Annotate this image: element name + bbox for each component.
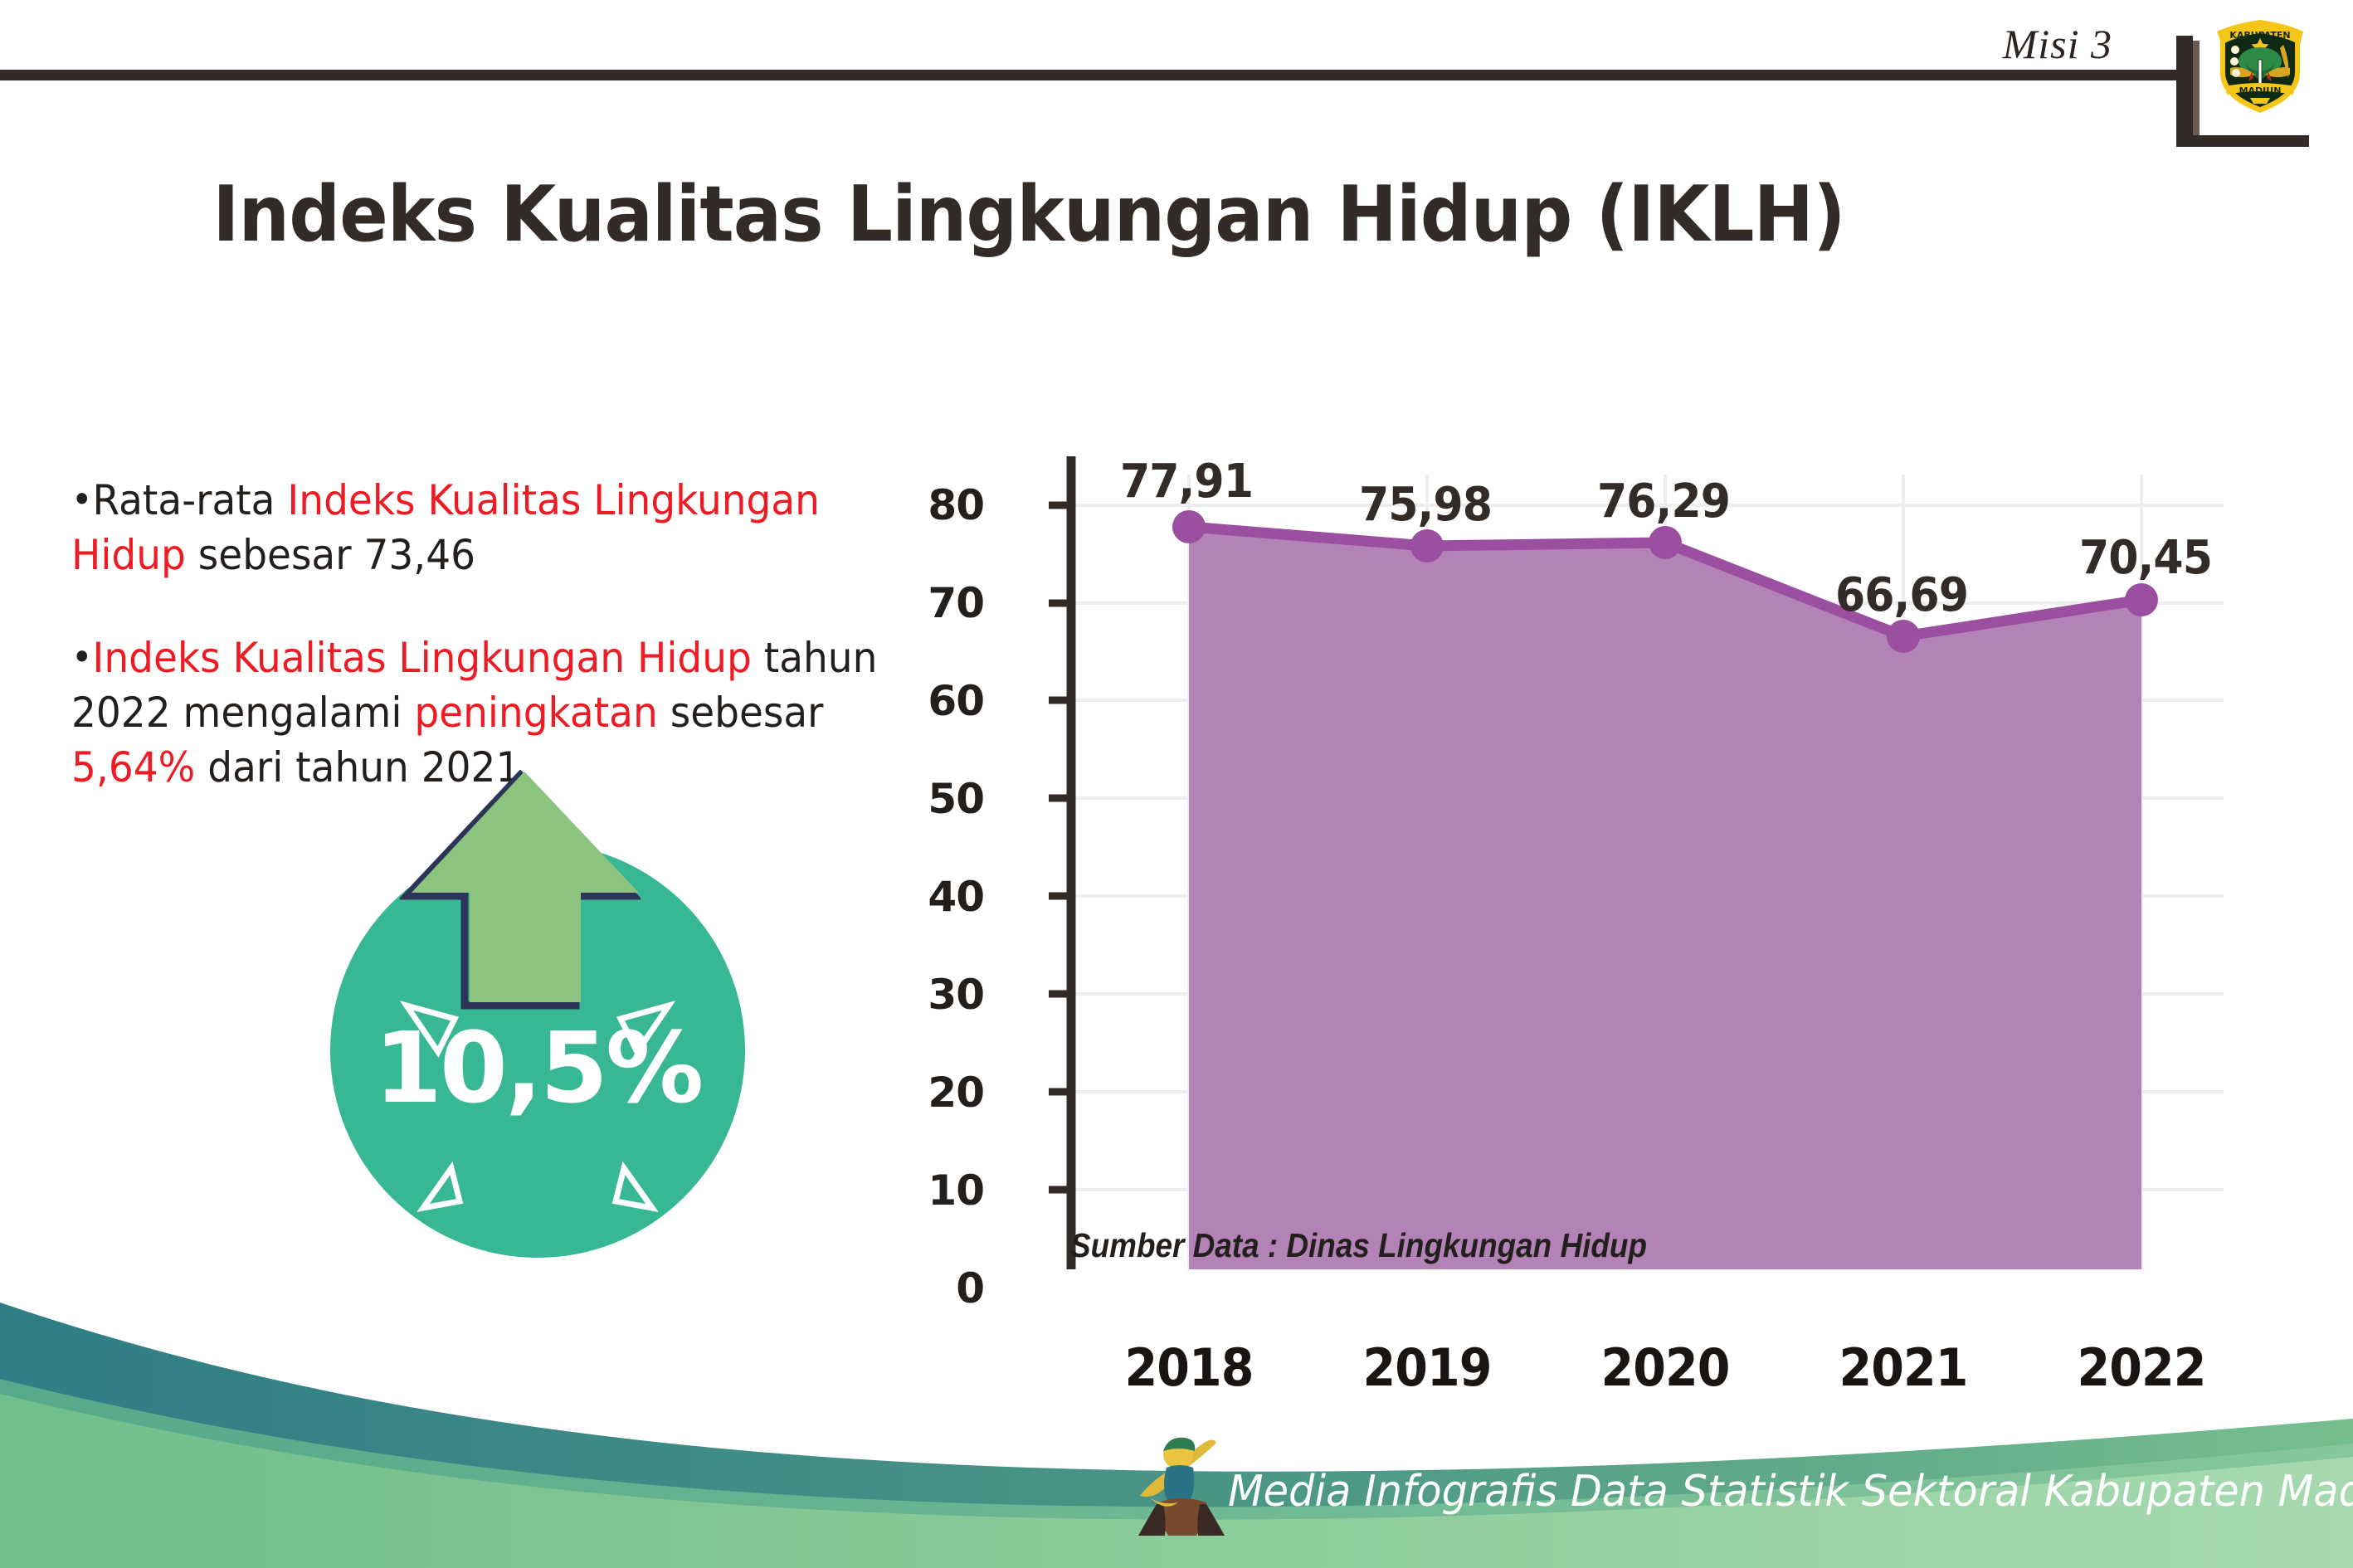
increase-badge: 10,5%	[330, 770, 745, 1185]
ytick-label-40: 40	[901, 873, 984, 921]
svg-text:MADIUN: MADIUN	[2239, 85, 2282, 96]
chart-source-caption: Sumber Data : Dinas Lingkungan Hidup	[1070, 1226, 1647, 1265]
badge-percentage-value: 10,5%	[330, 1010, 745, 1125]
point-label-2020: 76,29	[1563, 475, 1764, 528]
bullet-dot-icon: •	[71, 477, 93, 522]
ytick-label-70: 70	[901, 579, 984, 627]
statistik-person-logo	[1135, 1431, 1228, 1546]
chart-area-fill	[1189, 527, 2141, 1269]
ytick-label-10: 10	[901, 1166, 984, 1215]
bracket-vertical-bar	[2176, 36, 2193, 147]
ytick-label-50: 50	[901, 775, 984, 823]
ytick-label-20: 20	[901, 1069, 984, 1117]
bullet-2-part-3: sebesar	[658, 689, 824, 737]
point-label-2022: 70,45	[2045, 531, 2246, 585]
ytick-label-80: 80	[901, 481, 984, 529]
point-label-2018: 77,91	[1086, 455, 1287, 509]
bullet-2-part-2: peningkatan	[414, 689, 657, 737]
misi-label: Misi 3	[2003, 20, 2112, 68]
bracket-vertical-shadow	[2193, 41, 2200, 147]
ytick-label-30: 30	[901, 971, 984, 1019]
bullet-2-part-0: Indeks Kualitas Lingkungan Hidup	[93, 634, 752, 682]
bracket-horizontal-bar	[2176, 135, 2309, 147]
page-title: Indeks Kualitas Lingkungan Hidup (IKLH)	[72, 169, 1985, 259]
kabupaten-madiun-crest-logo: KABUPATEN MADIUN	[2214, 8, 2307, 118]
bullet-item-1: •Rata-rata Indeks Kualitas Lingkungan Hi…	[71, 473, 937, 582]
bullet-1-part-2: sebesar 73,46	[186, 531, 475, 579]
arrow-up-icon	[400, 770, 641, 1010]
bullet-dot-icon: •	[71, 635, 93, 679]
iklh-area-chart: 80 70 60 50 40 30 20 10 0	[979, 290, 2240, 1186]
chart-plot-area	[979, 290, 2240, 1269]
bullet-1-part-0: Rata-rata	[93, 476, 288, 524]
ytick-label-60: 60	[901, 677, 984, 725]
footer-caption: Media Infografis Data Statistik Sektoral…	[1228, 1467, 2353, 1517]
header-divider-rule	[0, 70, 2187, 80]
bullet-2-part-4: 5,64%	[71, 743, 195, 791]
point-label-2021: 66,69	[1801, 568, 2002, 622]
point-label-2019: 75,98	[1325, 478, 1526, 532]
